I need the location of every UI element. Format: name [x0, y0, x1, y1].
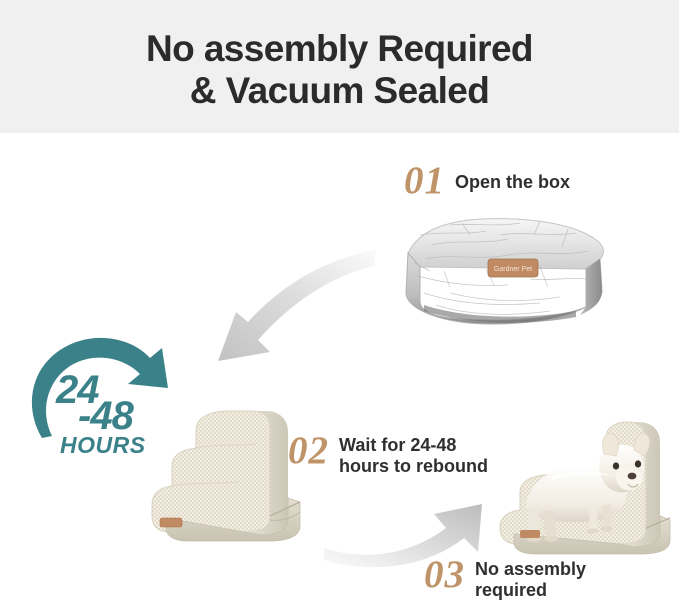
arrow-package-to-stairs-icon	[178, 248, 378, 363]
step-01-number: 01	[404, 162, 445, 200]
infographic-root: No assembly Required & Vacuum Sealed	[0, 0, 679, 608]
page-title-line-1: No assembly Required	[146, 28, 533, 69]
step-02: 02 Wait for 24-48 hours to rebound	[288, 432, 488, 477]
vacuum-sealed-package-image: Gardner Pet	[390, 205, 620, 330]
step-01-label: Open the box	[445, 170, 570, 193]
package-brand-label-text: Gardner Pet	[494, 266, 532, 273]
step-01: 01 Open the box	[404, 162, 570, 200]
step-02-label: Wait for 24-48 hours to rebound	[329, 432, 488, 477]
dog-on-pet-stairs-image	[492, 412, 679, 564]
step-02-number: 02	[288, 432, 329, 470]
step-03-label: No assembly required	[465, 556, 586, 601]
page-title: No assembly Required & Vacuum Sealed	[0, 28, 679, 112]
step-03-number: 03	[424, 556, 465, 594]
step-03: 03 No assembly required	[424, 556, 586, 601]
page-title-line-2: & Vacuum Sealed	[0, 70, 679, 112]
